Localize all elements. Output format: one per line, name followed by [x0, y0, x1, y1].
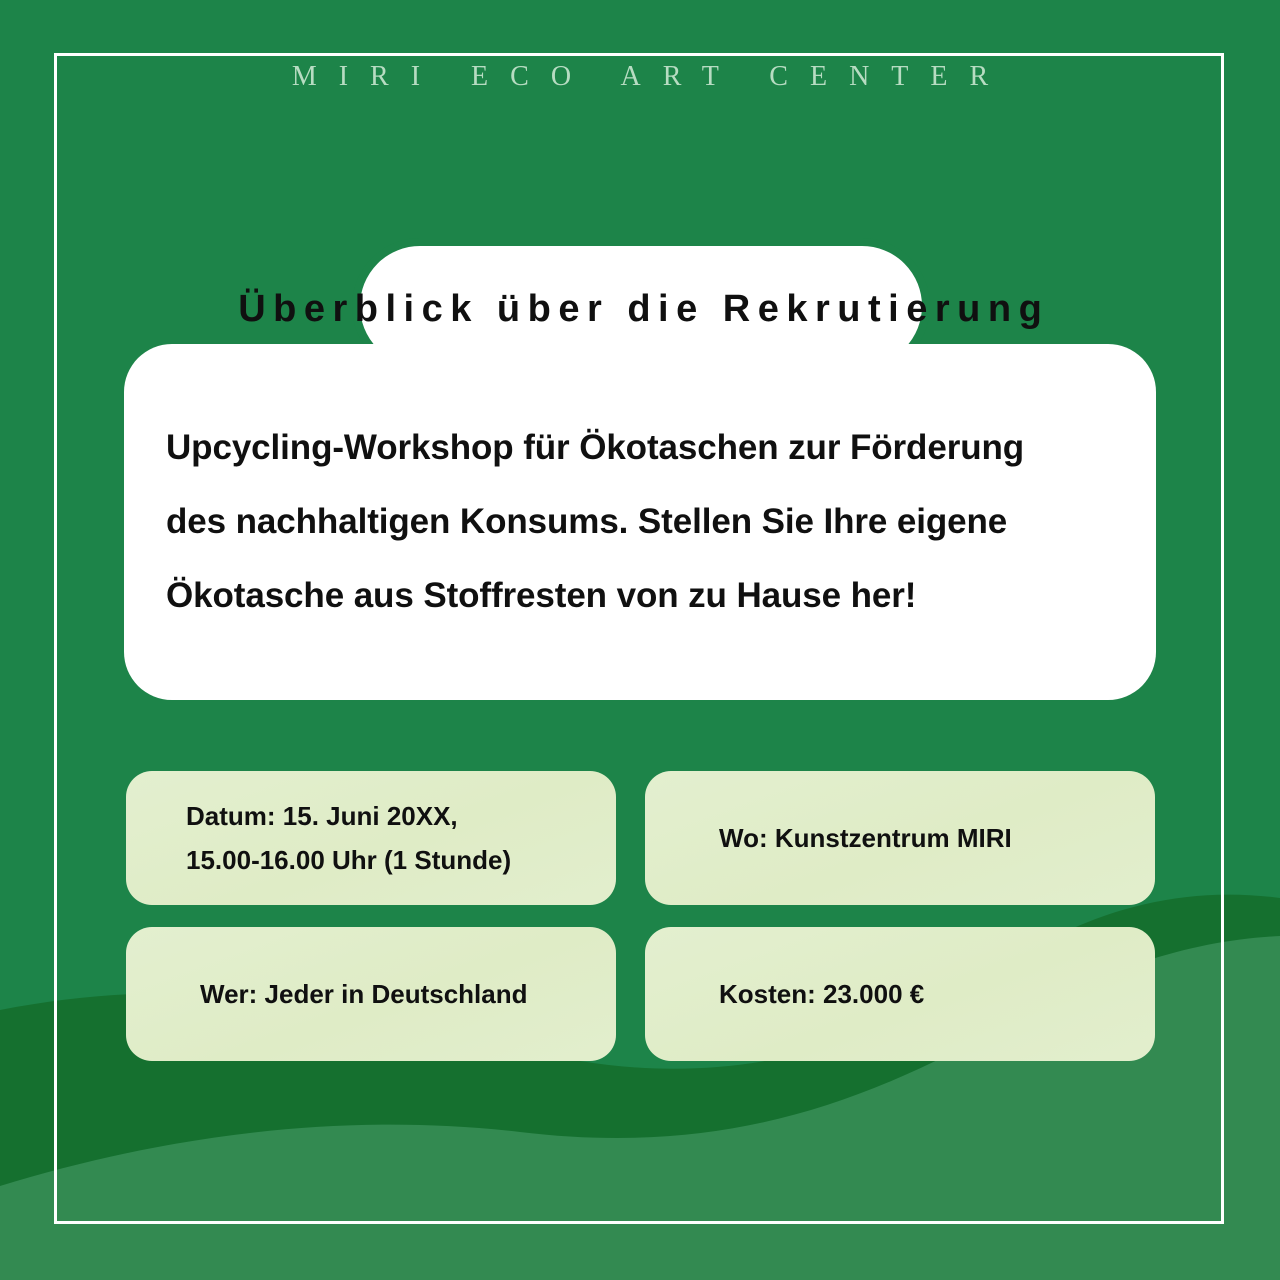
- info-box-wer: Wer: Jeder in Deutschland: [126, 927, 616, 1061]
- info-box-datum: Datum: 15. Juni 20XX, 15.00-16.00 Uhr (1…: [126, 771, 616, 905]
- info-box-kosten: Kosten: 23.000 €: [645, 927, 1155, 1061]
- page-title: Überblick über die Rekrutierung: [0, 283, 1280, 335]
- info-boxes-grid: Datum: 15. Juni 20XX, 15.00-16.00 Uhr (1…: [126, 771, 1155, 1061]
- description-line-2: des nachhaltigen Konsums. Stellen Sie Ih…: [166, 485, 1114, 559]
- info-box-wo: Wo: Kunstzentrum MIRI: [645, 771, 1155, 905]
- brand-name-text: MIRI ECO ART CENTER: [270, 63, 1010, 91]
- info-wo-line-1: Wo: Kunstzentrum MIRI: [719, 816, 1081, 860]
- info-datum-line-2: 15.00-16.00 Uhr (1 Stunde): [186, 838, 556, 882]
- info-kosten-line-1: Kosten: 23.000 €: [719, 972, 1081, 1016]
- brand-header: MIRI ECO ART CENTER: [54, 55, 1226, 99]
- info-datum-line-1: Datum: 15. Juni 20XX,: [186, 794, 556, 838]
- poster-canvas: MIRI ECO ART CENTER Upcycling-Workshop f…: [0, 0, 1280, 1280]
- description-line-3: Ökotasche aus Stoffresten von zu Hause h…: [166, 559, 1114, 633]
- description-card: Upcycling-Workshop für Ökotaschen zur Fö…: [124, 344, 1156, 700]
- description-line-1: Upcycling-Workshop für Ökotaschen zur Fö…: [166, 411, 1114, 485]
- info-wer-line-1: Wer: Jeder in Deutschland: [200, 972, 542, 1016]
